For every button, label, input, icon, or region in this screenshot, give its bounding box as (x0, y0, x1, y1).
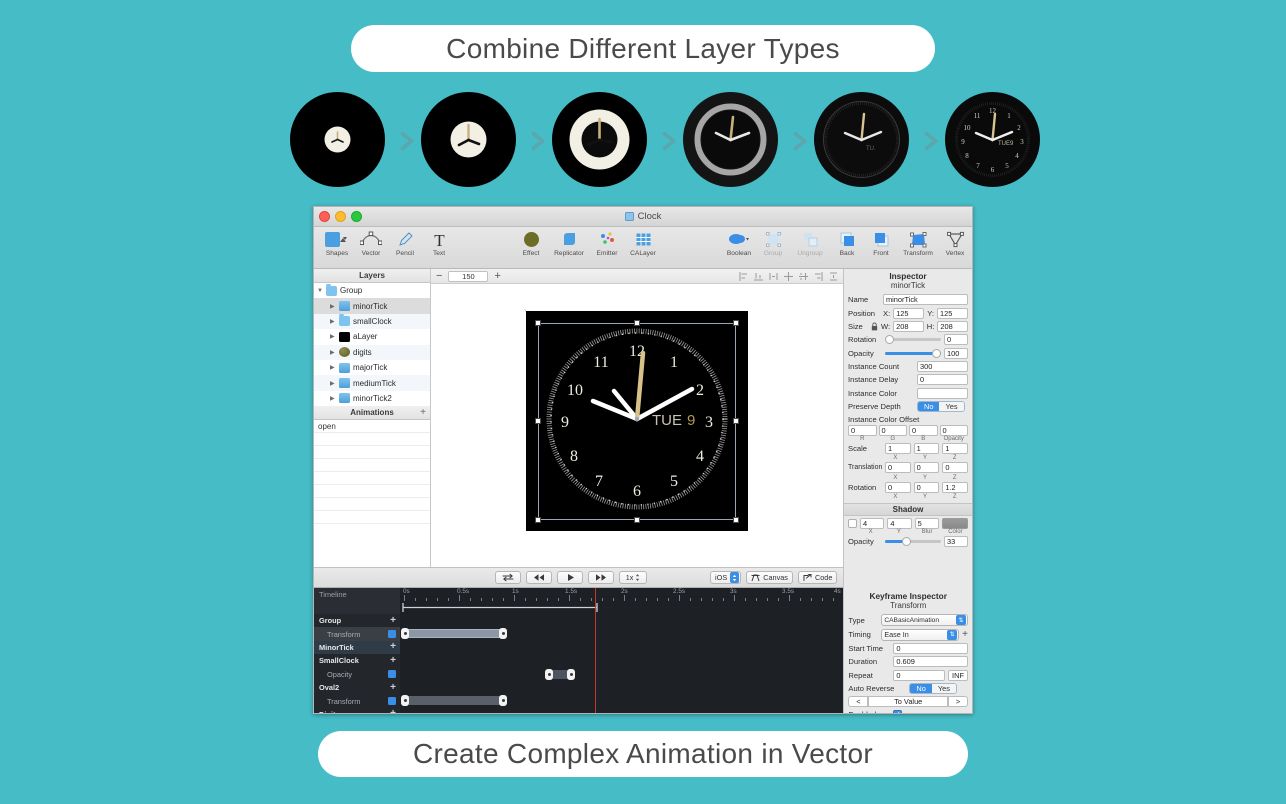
lock-icon[interactable] (871, 322, 878, 331)
headline-banner-bottom: Create Complex Animation in Vector (318, 731, 968, 777)
offset-g-label: G (879, 436, 908, 442)
selection-handle-n[interactable] (634, 320, 640, 326)
track-group-transform[interactable] (400, 627, 843, 640)
position-label: Position (848, 309, 880, 318)
timeline-row-group-transform[interactable]: Transform (314, 627, 400, 640)
instance-delay-label: Instance Delay (848, 375, 914, 384)
svg-text:1: 1 (1007, 112, 1011, 120)
toolbar-vertex-label: Vertex (946, 250, 965, 257)
animation-row-empty-6 (314, 498, 430, 511)
toolbar-grid-button[interactable]: Grid (972, 230, 973, 257)
timeline-row-label: Oval2 (319, 683, 339, 692)
toolbar-emitter-button[interactable]: Emitter (590, 230, 624, 257)
track-minortick[interactable] (400, 641, 843, 654)
clock-step-4 (683, 92, 778, 187)
layer-label: minorTick (353, 302, 387, 311)
folder-swatch-icon (326, 286, 337, 296)
align-tools (739, 272, 838, 281)
clock-step-5: TU. (814, 92, 909, 187)
timeline-row-label: Opacity (327, 670, 352, 679)
app-window: Clock Shapes Vector Pencil (313, 206, 973, 714)
ungroup-icon (802, 230, 819, 249)
repeat-inf-button[interactable]: INF (948, 670, 968, 681)
layer-swatch-icon (339, 393, 350, 403)
timeline-row-label: Digits (319, 710, 340, 714)
toolbar-calayer-label: CALayer (630, 250, 656, 257)
disclosure-closed-icon[interactable]: ▶ (330, 318, 336, 325)
toolbar-effect-label: Effect (523, 250, 540, 257)
keyframe-start[interactable] (545, 669, 553, 680)
instance-color-well[interactable] (917, 388, 968, 399)
svg-text:11: 11 (974, 112, 981, 120)
platform-value: iOS (715, 573, 727, 582)
selection-frame (538, 323, 736, 520)
toolbar-back-label: Back (840, 250, 855, 257)
scale-x-label: X (882, 455, 909, 461)
send-back-icon (839, 230, 856, 249)
svg-text:9: 9 (961, 138, 965, 146)
disclosure-open-icon[interactable]: ▼ (317, 288, 323, 294)
rotation3d-x-input[interactable]: 0 (885, 482, 911, 493)
layers-panel: Layers ▼ Group ▶ minorTick ▶ smallClock (314, 269, 431, 567)
shadow-opacity-slider[interactable] (885, 536, 941, 547)
keyframe-enabled-row: Enabled ✓ (844, 709, 972, 714)
scale-y-label: Y (912, 455, 939, 461)
toolbar-replicator-button[interactable]: Replicator (548, 230, 590, 257)
layer-label: mediumTick (353, 379, 396, 388)
rotation3d-y-input[interactable]: 0 (914, 482, 940, 493)
translation-z-input[interactable]: 0 (942, 462, 968, 473)
animation-label: open (318, 422, 336, 431)
canvas-column: − 150 + (431, 269, 843, 567)
shadow-blur-input[interactable]: 5 (915, 518, 939, 529)
selection-handle-nw[interactable] (535, 320, 541, 326)
svg-text:6: 6 (991, 166, 995, 174)
keyframe-bar[interactable] (404, 696, 504, 705)
animations-header-label: Animations (350, 408, 394, 417)
align-left-icon[interactable] (739, 272, 748, 281)
toolbar-shapes-label: Shapes (326, 250, 348, 257)
effect-icon (523, 230, 540, 249)
add-keyframe-button[interactable]: + (390, 683, 396, 693)
window-title-text: Clock (638, 211, 662, 222)
toolbar-ungroup-label: Ungroup (797, 250, 822, 257)
inspector-instance-delay-row: Instance Delay 0 (844, 373, 972, 386)
timeline-row-smallclock[interactable]: SmallClock + (314, 654, 400, 667)
size-h-input[interactable]: 208 (937, 321, 968, 332)
disclosure-closed-icon[interactable]: ▶ (330, 349, 336, 356)
svg-text:4: 4 (1015, 152, 1019, 160)
shadow-color-well[interactable] (942, 518, 968, 529)
scale-z-input[interactable]: 1 (942, 443, 968, 454)
offset-r-input[interactable]: 0 (848, 425, 877, 436)
timing-label: Timing (848, 630, 878, 639)
keyframe-start-time-row: Start Time 0 (844, 642, 972, 655)
layer-row-alayer[interactable]: ▶ aLayer (314, 329, 430, 344)
position-x-input[interactable]: 125 (893, 308, 924, 319)
inspector-divider (843, 567, 972, 588)
scale-x-input[interactable]: 1 (885, 443, 911, 454)
toolbar-vertex-button[interactable]: Vertex (938, 230, 972, 257)
keyframe-end[interactable] (499, 695, 507, 706)
add-keyframe-button[interactable]: + (390, 642, 396, 652)
track-digits[interactable] (400, 708, 843, 714)
loop-button[interactable] (495, 571, 521, 584)
toolbar-transform-button[interactable]: Transform (898, 230, 938, 257)
disclosure-closed-icon[interactable]: ▶ (330, 364, 336, 371)
selection-handle-s[interactable] (634, 517, 640, 523)
transform-icon (910, 230, 927, 249)
ruler-label-1s: 1s (512, 588, 519, 595)
canvas-tab-label: Canvas (763, 573, 788, 582)
timeline-header: Timeline (314, 588, 400, 601)
keyframe-duration-row: Duration 0.609 (844, 655, 972, 668)
track-smallclock[interactable] (400, 654, 843, 667)
timeline-tracks[interactable]: 0s 0.5s 1s 1.5s 2s 2.5s 3s 3.5s 4s (400, 588, 843, 714)
folder-swatch-icon (339, 316, 350, 326)
layers-panel-header: Layers (314, 269, 430, 283)
canvas-toolbar: − 150 + (431, 269, 843, 284)
animations-panel-header: Animations + (314, 406, 430, 420)
timeline-range-spacer (314, 601, 400, 614)
track-group[interactable] (400, 614, 843, 627)
timeline-track-names: Timeline Group + Transform MinorTick + (314, 588, 400, 714)
svg-text:TU.: TU. (866, 146, 876, 152)
headline-banner-top: Combine Different Layer Types (351, 25, 935, 72)
inspector-name-row: Name minorTick (844, 293, 972, 306)
toolbar-group-label: Group (764, 250, 782, 257)
rotation3d-z-input[interactable]: 1.2 (942, 482, 968, 493)
scale-y-input[interactable]: 1 (914, 443, 940, 454)
timeline-playhead[interactable] (595, 588, 596, 714)
toolbar-shapes-button[interactable]: Shapes (320, 230, 354, 257)
shadow-y-input[interactable]: 4 (887, 518, 911, 529)
shadow-header-label: Shadow (893, 505, 924, 514)
timeline-row-label: Transform (327, 630, 360, 639)
toolbar-calayer-button[interactable]: CALayer (624, 230, 662, 257)
disclosure-closed-icon[interactable]: ▶ (330, 333, 336, 340)
align-center-icon[interactable] (784, 272, 793, 281)
position-y-label: Y: (927, 309, 934, 318)
timeline-ruler[interactable]: 0s 0.5s 1s 1.5s 2s 2.5s 3s 3.5s 4s (400, 588, 843, 601)
keyframe-inspector-title: Keyframe Inspector (844, 588, 972, 601)
position-x-label: X: (883, 309, 890, 318)
svg-text:10: 10 (964, 124, 972, 132)
zoom-in-button[interactable]: + (494, 271, 500, 282)
keyframe-end[interactable] (567, 669, 575, 680)
layer-label: majorTick (353, 363, 387, 372)
toolbar-effect-button[interactable]: Effect (514, 230, 548, 257)
rotation3d-label: Rotation (848, 483, 882, 492)
toolbar-text-button[interactable]: T Text (422, 230, 456, 257)
add-animation-button[interactable]: + (420, 407, 426, 418)
animation-row-empty-5 (314, 485, 430, 498)
add-keyframe-button[interactable]: + (390, 616, 396, 626)
timeline-row-group[interactable]: Group + (314, 614, 400, 627)
opacity-input[interactable]: 100 (944, 348, 968, 359)
preserve-depth-no[interactable]: No (918, 402, 939, 411)
timeline-row-opacity[interactable]: Opacity (314, 668, 400, 681)
offset-opacity-input[interactable]: 0 (940, 425, 969, 436)
canvas-area[interactable]: 12 1 2 3 4 5 6 7 8 9 10 11 (431, 284, 843, 567)
start-time-input[interactable]: 0 (893, 643, 968, 654)
animation-row-empty-4 (314, 472, 430, 485)
clock-step-6: 1212 345 678 91011 TUE9 (945, 92, 1040, 187)
playback-speed-stepper[interactable]: 1x (619, 571, 647, 584)
calayer-icon (635, 230, 652, 249)
timeline-row-minortick[interactable]: MinorTick + (314, 641, 400, 654)
track-oval2[interactable] (400, 681, 843, 694)
toolbar-back-button[interactable]: Back (830, 230, 864, 257)
distribute-vertical-icon[interactable] (829, 272, 838, 281)
shadow-fields: 4 4 5 (844, 516, 972, 529)
translation-x-input[interactable]: 0 (885, 462, 911, 473)
inspector-rotation3d-row: Rotation 0 0 1.2 (844, 481, 972, 494)
timeline-header-label: Timeline (319, 590, 347, 599)
timeline-work-range[interactable] (400, 601, 843, 614)
timeline-body: Timeline Group + Transform MinorTick + (314, 588, 843, 714)
keyframe-bar[interactable] (404, 629, 504, 638)
keyframe-start[interactable] (401, 628, 409, 639)
selection-handle-sw[interactable] (535, 517, 541, 523)
preserve-depth-label: Preserve Depth (848, 402, 914, 411)
layer-row-digits[interactable]: ▶ digits (314, 345, 430, 360)
window-title: Clock (314, 211, 972, 222)
shadow-x-label: X (858, 529, 883, 535)
toolbar-text-label: Text (433, 250, 445, 257)
scale-label: Scale (848, 444, 882, 453)
repeat-input[interactable]: 0 (893, 670, 945, 681)
offset-opacity-label: Opacity (940, 436, 969, 442)
animations-list: open (314, 420, 430, 567)
platform-select[interactable]: iOS (710, 571, 741, 584)
to-value-prev-button[interactable]: < (848, 696, 868, 707)
keyframe-start[interactable] (401, 695, 409, 706)
align-right-icon[interactable] (814, 272, 823, 281)
toolbar-vector-label: Vector (362, 250, 381, 257)
clock-step-2 (421, 92, 516, 187)
translation-label: Translation (848, 464, 882, 471)
offset-b-input[interactable]: 0 (909, 425, 938, 436)
svg-text:5: 5 (1005, 162, 1009, 170)
ruler-label-3s: 3s (730, 588, 737, 595)
disclosure-closed-icon[interactable]: ▶ (330, 303, 336, 310)
document-icon (625, 212, 634, 221)
shadow-section-header: Shadow (844, 503, 972, 516)
layer-row-mediumtick[interactable]: ▶ mediumTick (314, 375, 430, 390)
instance-count-label: Instance Count (848, 362, 914, 371)
toolbar-transform-label: Transform (903, 250, 933, 257)
enabled-checkbox[interactable]: ✓ (893, 710, 902, 714)
animation-row-open[interactable]: open (314, 420, 430, 433)
to-value-button[interactable]: To Value (868, 696, 948, 707)
animation-row-empty-7 (314, 511, 430, 524)
layer-row-minortick[interactable]: ▶ minorTick (314, 298, 430, 313)
inspector-opacity-row: Opacity 100 (844, 347, 972, 360)
add-keyframe-button[interactable]: + (390, 709, 396, 714)
inspector-instance-count-row: Instance Count 300 (844, 360, 972, 373)
ruler-label-4s: 4s (834, 588, 841, 595)
type-label: Type (848, 616, 878, 625)
selection-handle-w[interactable] (535, 418, 541, 424)
inspector-panel: Inspector minorTick Name minorTick Posit… (843, 269, 972, 567)
inspector-title: Inspector (844, 269, 972, 281)
repeat-label: Repeat (848, 671, 890, 680)
chevron-right-icon-4 (790, 130, 812, 152)
keyframe-to-value-row: < To Value > (844, 695, 972, 708)
animation-type-select[interactable]: CABasicAnimation ⇅ (881, 614, 968, 626)
translation-y-input[interactable]: 0 (914, 462, 940, 473)
stepper-arrows-icon (635, 573, 640, 582)
canvas-tab-button[interactable]: Canvas (746, 571, 793, 584)
selection-handle-ne[interactable] (733, 320, 739, 326)
chevron-right-icon-3 (659, 130, 681, 152)
canvas-icon (751, 574, 760, 582)
add-keyframe-button[interactable]: + (390, 656, 396, 666)
offset-g-input[interactable]: 0 (879, 425, 908, 436)
ruler-label-2s: 2s (621, 588, 628, 595)
headline-bottom-text: Create Complex Animation in Vector (413, 738, 873, 770)
layer-row-minortick2[interactable]: ▶ minorTick2 (314, 391, 430, 406)
timeline-row-digits[interactable]: Digits + (314, 708, 400, 714)
offset-r-label: R (848, 436, 877, 442)
play-button[interactable] (557, 571, 583, 584)
instance-count-input[interactable]: 300 (917, 361, 968, 372)
animation-row-empty-3 (314, 459, 430, 472)
preserve-depth-toggle[interactable]: No Yes (917, 401, 965, 412)
playback-speed-value: 1x (626, 573, 634, 582)
main-content: Layers ▼ Group ▶ minorTick ▶ smallClock (314, 269, 972, 567)
forward-button[interactable] (588, 571, 614, 584)
rotation-slider[interactable] (885, 334, 941, 345)
headline-top-text: Combine Different Layer Types (446, 33, 840, 65)
track-enabled-checkbox[interactable] (388, 670, 396, 678)
keyframe-auto-reverse-row: Auto Reverse No Yes (844, 682, 972, 695)
offset-b-label: B (909, 436, 938, 442)
keyframe-end[interactable] (499, 628, 507, 639)
disclosure-closed-icon[interactable]: ▶ (330, 395, 336, 402)
layer-label: aLayer (353, 332, 377, 341)
timeline-row-label: MinorTick (319, 643, 354, 652)
timeline-row-oval2[interactable]: Oval2 + (314, 681, 400, 694)
zoom-level-field[interactable]: 150 (448, 271, 488, 282)
keyframe-timing-row: Timing Ease In ⇅ + (844, 627, 972, 641)
select-arrows-icon: ⇅ (947, 630, 957, 640)
svg-text:TUE9: TUE9 (998, 141, 1014, 147)
toolbar-pencil-label: Pencil (396, 250, 414, 257)
distribute-horizontal-icon[interactable] (769, 272, 778, 281)
layer-row-majortick[interactable]: ▶ majorTick (314, 360, 430, 375)
toolbar-group-right: Transform Vertex Grid Export (898, 230, 973, 257)
toolbar-pencil-button[interactable]: Pencil (388, 230, 422, 257)
size-w-input[interactable]: 208 (893, 321, 924, 332)
track-enabled-checkbox[interactable] (388, 697, 396, 705)
auto-reverse-yes[interactable]: Yes (932, 684, 956, 693)
svg-text:3: 3 (1020, 138, 1024, 146)
layer-swatch-icon (339, 301, 350, 311)
preserve-depth-yes[interactable]: Yes (939, 402, 963, 411)
selection-handle-se[interactable] (733, 517, 739, 523)
timeline-row-label: Transform (327, 697, 360, 706)
instance-delay-input[interactable]: 0 (917, 374, 968, 385)
layer-row-group[interactable]: ▼ Group (314, 283, 430, 298)
ruler-label-15s: 1.5s (565, 588, 577, 595)
shadow-enable-checkbox[interactable] (848, 519, 857, 528)
translation-x-label: X (882, 475, 909, 481)
rewind-button[interactable] (526, 571, 552, 584)
disclosure-closed-icon[interactable]: ▶ (330, 380, 336, 387)
shapes-icon (324, 230, 350, 249)
code-tab-button[interactable]: Code (798, 571, 837, 584)
opacity-slider[interactable] (885, 348, 941, 359)
auto-reverse-no[interactable]: No (910, 684, 931, 693)
auto-reverse-toggle[interactable]: No Yes (909, 683, 957, 694)
chevron-right-icon-1 (397, 130, 419, 152)
keyframe-type-row: Type CABasicAnimation ⇅ (844, 613, 972, 627)
ruler-label-25s: 2.5s (673, 588, 685, 595)
toolbar-boolean-button[interactable]: Boolean (722, 230, 756, 257)
timing-select[interactable]: Ease In ⇅ (881, 629, 959, 641)
toolbar-group-button[interactable]: Group (756, 230, 790, 257)
shadow-opacity-input[interactable]: 33 (944, 536, 968, 547)
toolbar-vector-button[interactable]: Vector (354, 230, 388, 257)
chevron-right-icon-5 (921, 130, 943, 152)
layer-row-smallclock[interactable]: ▶ smallClock (314, 314, 430, 329)
layers-list: ▼ Group ▶ minorTick ▶ smallClock ▶ (314, 283, 430, 406)
layer-label: digits (353, 348, 372, 357)
size-label: Size (848, 322, 868, 331)
track-enabled-checkbox[interactable] (388, 630, 396, 638)
inspector-subtitle: minorTick (844, 281, 972, 293)
inspector-size-row: Size W: 208 H: 208 (844, 320, 972, 333)
shadow-x-input[interactable]: 4 (860, 518, 884, 529)
size-w-label: W: (881, 322, 890, 331)
position-y-input[interactable]: 125 (937, 308, 968, 319)
svg-text:2: 2 (1017, 124, 1021, 132)
toolbar-front-button[interactable]: Front (864, 230, 898, 257)
timing-value: Ease In (884, 630, 908, 639)
replicator-icon (561, 230, 578, 249)
name-label: Name (848, 295, 880, 304)
name-input[interactable]: minorTick (883, 294, 968, 305)
selection-handle-e[interactable] (733, 418, 739, 424)
toolbar-group-tools: Shapes Vector Pencil T Text (320, 230, 456, 257)
duration-label: Duration (848, 657, 890, 666)
toolbar-replicator-label: Replicator (554, 250, 584, 257)
layers-header-label: Layers (359, 271, 385, 280)
emitter-icon (599, 230, 616, 249)
align-top-icon[interactable] (754, 272, 763, 281)
timeline-row-oval2-transform[interactable]: Transform (314, 694, 400, 707)
track-opacity[interactable] (400, 668, 843, 681)
align-middle-icon[interactable] (799, 272, 808, 281)
svg-text:8: 8 (965, 152, 969, 160)
layer-swatch-icon (339, 332, 350, 342)
duration-input[interactable]: 0.609 (893, 656, 968, 667)
text-icon: T (431, 230, 448, 249)
layer-label: Group (340, 286, 362, 295)
to-value-next-button[interactable]: > (948, 696, 968, 707)
rotation-input[interactable]: 0 (944, 334, 968, 345)
toolbar-emitter-label: Emitter (597, 250, 618, 257)
toolbar-ungroup-button[interactable]: Ungroup (790, 230, 830, 257)
keyframe-inspector-panel: Keyframe Inspector Transform Type CABasi… (843, 588, 972, 714)
offset-fields: 0 0 0 0 (844, 425, 972, 436)
track-oval2-transform[interactable] (400, 694, 843, 707)
add-timing-button[interactable]: + (962, 629, 968, 640)
zoom-out-button[interactable]: − (436, 271, 442, 282)
rotation3d-sublabels: X Y Z (844, 494, 972, 500)
